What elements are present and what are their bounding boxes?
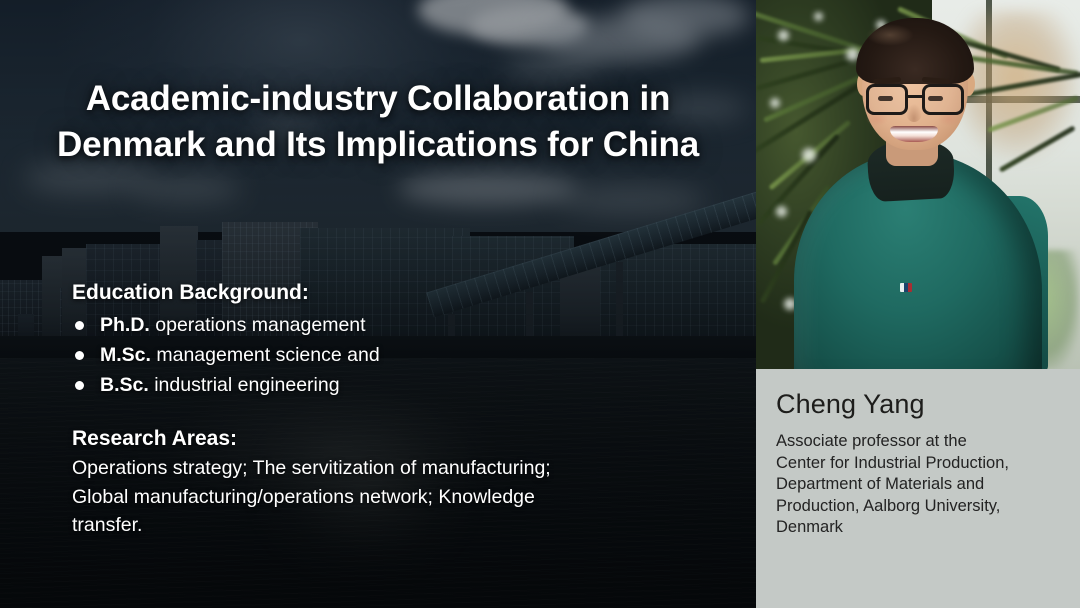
research-line-2: Global manufacturing/operations network;… xyxy=(72,483,732,512)
speaker-portrait-photo xyxy=(756,0,1080,369)
speaker-affiliation: Associate professor at the Center for In… xyxy=(776,431,1068,539)
degree-field: industrial engineering xyxy=(149,374,340,396)
sweater-logo-icon xyxy=(900,283,912,292)
affiliation-line-3: Department of Materials and xyxy=(776,474,1068,496)
list-item: B.Sc. industrial engineering xyxy=(72,370,742,400)
degree-field: management science and xyxy=(151,344,380,366)
nose xyxy=(906,104,922,122)
research-line-3: transfer. xyxy=(72,511,732,540)
degree-label: M.Sc. xyxy=(100,344,151,366)
education-background-block: Education Background: Ph.D. operations m… xyxy=(72,278,742,400)
affiliation-line-5: Denmark xyxy=(776,517,1068,539)
slide-title: Academic-industry Collaboration in Denma… xyxy=(0,76,756,168)
research-line-1: Operations strategy; The servitization o… xyxy=(72,454,732,483)
affiliation-line-4: Production, Aalborg University, xyxy=(776,496,1068,518)
degree-label: B.Sc. xyxy=(100,374,149,396)
research-heading: Research Areas: xyxy=(72,424,732,454)
speaker-column: Cheng Yang Associate professor at the Ce… xyxy=(756,0,1080,608)
speaker-name: Cheng Yang xyxy=(776,387,925,421)
lens-left xyxy=(866,84,908,115)
degree-label: Ph.D. xyxy=(100,314,150,336)
presentation-slide: Academic-industry Collaboration in Denma… xyxy=(0,0,1080,608)
research-areas-block: Research Areas: Operations strategy; The… xyxy=(72,424,732,540)
affiliation-line-2: Center for Industrial Production, xyxy=(776,453,1068,475)
speaker-info-panel: Cheng Yang Associate professor at the Ce… xyxy=(756,369,1080,608)
title-line-2: Denmark and Its Implications for China xyxy=(18,122,738,168)
affiliation-line-1: Associate professor at the xyxy=(776,431,1068,453)
lens-right xyxy=(922,84,964,115)
education-heading: Education Background: xyxy=(72,278,742,308)
degree-field: operations management xyxy=(150,314,366,336)
list-item: M.Sc. management science and xyxy=(72,340,742,370)
bullet-dot-icon xyxy=(75,321,84,330)
list-item: Ph.D. operations management xyxy=(72,310,742,340)
bullet-dot-icon xyxy=(75,381,84,390)
title-line-1: Academic-industry Collaboration in xyxy=(18,76,738,122)
bullet-dot-icon xyxy=(75,351,84,360)
education-list: Ph.D. operations management M.Sc. manage… xyxy=(72,310,742,400)
